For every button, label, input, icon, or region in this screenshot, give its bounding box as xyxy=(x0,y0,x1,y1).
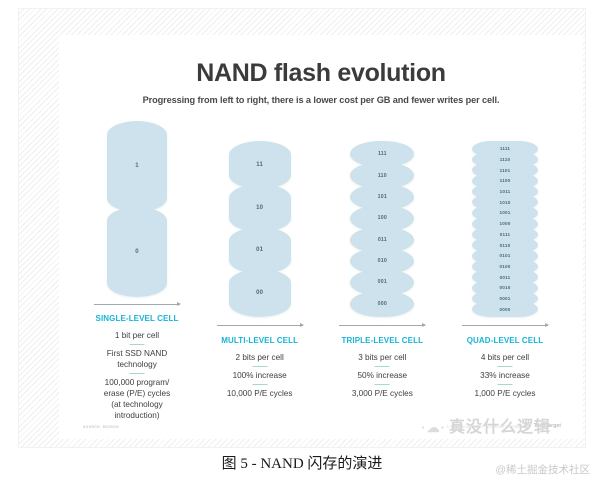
page-title: NAND flash evolution xyxy=(59,59,583,88)
cell-state-label: 1 xyxy=(135,163,139,169)
column-header-slc: SINGLE-LEVEL CELL xyxy=(81,314,193,323)
cell-state-label: 1011 xyxy=(500,189,511,194)
infographic-card: NAND flash evolution Progressing from le… xyxy=(59,35,583,439)
fact-item: First SSD NANDtechnology xyxy=(81,348,193,377)
channel-watermark-text: 真没什么逻辑 xyxy=(449,419,551,436)
cell-state-segment: 111 xyxy=(350,141,414,167)
screenshot-root: NAND flash evolution Progressing from le… xyxy=(0,0,604,490)
cell-type-columns: 10SINGLE-LEVEL CELL1 bit per cellFirst S… xyxy=(59,121,583,421)
column-header-mlc: MULTI-LEVEL CELL xyxy=(204,336,316,345)
cell-state-segment: 01 xyxy=(229,227,291,275)
arrow-right-icon xyxy=(217,325,303,326)
cell-state-label: 01 xyxy=(256,247,263,253)
fact-item: 3 bits per cell xyxy=(326,352,438,370)
cell-state-segment: 1111 xyxy=(472,141,538,157)
fact-item: 1 bit per cell xyxy=(81,330,193,348)
cell-state-label: 0 xyxy=(135,249,139,255)
cell-state-label: 011 xyxy=(378,237,387,243)
cell-state-label: 0011 xyxy=(500,275,511,280)
fact-item: 10,000 P/E cycles xyxy=(204,388,316,399)
cell-cylinder-slc: 10 xyxy=(107,121,167,297)
cell-column-mlc: 11100100MULTI-LEVEL CELL2 bits per cell1… xyxy=(204,121,316,421)
cell-state-label: 101 xyxy=(378,194,387,200)
column-facts-slc: 1 bit per cellFirst SSD NANDtechnology10… xyxy=(81,330,193,421)
fact-item: 2 bits per cell xyxy=(204,352,316,370)
fact-item: 50% increase xyxy=(326,370,438,388)
arrow-right-icon xyxy=(339,325,425,326)
cell-state-label: 0101 xyxy=(499,253,510,258)
cell-state-segment: 10 xyxy=(229,184,291,232)
progression-arrow-row xyxy=(81,297,193,311)
cell-state-label: 10 xyxy=(256,205,263,211)
cell-state-label: 110 xyxy=(378,173,387,179)
fact-item: 100% increase xyxy=(204,370,316,388)
cell-column-qlc: 1111111011011100101110101001100001110110… xyxy=(449,121,561,421)
source-note: SOURCE: MICRON xyxy=(83,425,119,429)
progression-arrow-row xyxy=(326,317,438,333)
cell-state-segment: 11 xyxy=(229,141,291,189)
cell-column-tlc: 111110101100011010001000TRIPLE-LEVEL CEL… xyxy=(326,121,438,421)
cylinder-wrap-qlc: 1111111011011100101110101001100001110110… xyxy=(449,121,561,317)
cell-state-label: 001 xyxy=(378,279,387,285)
fact-item: 1,000 P/E cycles xyxy=(449,388,561,399)
cell-state-segment: 0 xyxy=(107,207,167,298)
cylinder-wrap-slc: 10 xyxy=(81,121,193,297)
cell-state-label: 0100 xyxy=(499,264,510,269)
cell-state-label: 1001 xyxy=(499,210,510,215)
fact-item: 3,000 P/E cycles xyxy=(326,388,438,399)
cell-state-label: 11 xyxy=(256,162,263,168)
cell-state-label: 0110 xyxy=(500,243,511,248)
cell-state-label: 0001 xyxy=(499,296,510,301)
cell-state-label: 010 xyxy=(378,258,387,264)
cell-state-label: 1010 xyxy=(499,200,510,205)
cell-cylinder-tlc: 111110101100011010001000 xyxy=(350,141,414,317)
cell-state-label: 1100 xyxy=(500,178,511,183)
column-facts-mlc: 2 bits per cell100% increase10,000 P/E c… xyxy=(204,352,316,399)
column-facts-tlc: 3 bits per cell50% increase3,000 P/E cyc… xyxy=(326,352,438,399)
fact-item: 4 bits per cell xyxy=(449,352,561,370)
arrow-right-icon xyxy=(462,325,548,326)
cell-state-label: 1101 xyxy=(500,168,511,173)
cell-state-label: 0111 xyxy=(500,232,511,237)
cylinder-wrap-tlc: 111110101100011010001000 xyxy=(326,121,438,317)
cell-state-label: 0000 xyxy=(499,307,510,312)
cylinder-wrap-mlc: 11100100 xyxy=(204,121,316,317)
progression-arrow-row xyxy=(449,317,561,333)
column-header-qlc: QUAD-LEVEL CELL xyxy=(449,336,561,345)
cell-state-segment: 00 xyxy=(229,269,291,317)
sparkle-icon: ·☁· xyxy=(421,420,446,435)
infographic-frame: NAND flash evolution Progressing from le… xyxy=(18,8,586,448)
cell-state-label: 1000 xyxy=(499,221,510,226)
cell-state-label: 1110 xyxy=(500,157,511,162)
cell-state-label: 000 xyxy=(378,301,387,307)
cell-state-label: 111 xyxy=(378,151,387,157)
cell-state-label: 1111 xyxy=(500,146,510,151)
page-subtitle: Progressing from left to right, there is… xyxy=(59,95,583,105)
arrow-right-icon xyxy=(94,304,180,305)
channel-watermark: ·☁·真没什么逻辑 xyxy=(421,413,551,437)
cell-state-label: 100 xyxy=(378,215,387,221)
cell-state-label: 0010 xyxy=(499,285,510,290)
progression-arrow-row xyxy=(204,317,316,333)
fact-item: 33% increase xyxy=(449,370,561,388)
cell-cylinder-qlc: 1111111011011100101110101001100001110110… xyxy=(472,141,538,317)
column-facts-qlc: 4 bits per cell33% increase1,000 P/E cyc… xyxy=(449,352,561,399)
column-header-tlc: TRIPLE-LEVEL CELL xyxy=(326,336,438,345)
cell-cylinder-mlc: 11100100 xyxy=(229,141,291,317)
cell-column-slc: 10SINGLE-LEVEL CELL1 bit per cellFirst S… xyxy=(81,121,193,421)
fact-item: 100,000 program/erase (P/E) cycles(at te… xyxy=(81,377,193,421)
cell-state-label: 00 xyxy=(256,290,263,296)
cell-state-segment: 1 xyxy=(107,121,167,212)
community-watermark: @稀土掘金技术社区 xyxy=(495,462,590,477)
